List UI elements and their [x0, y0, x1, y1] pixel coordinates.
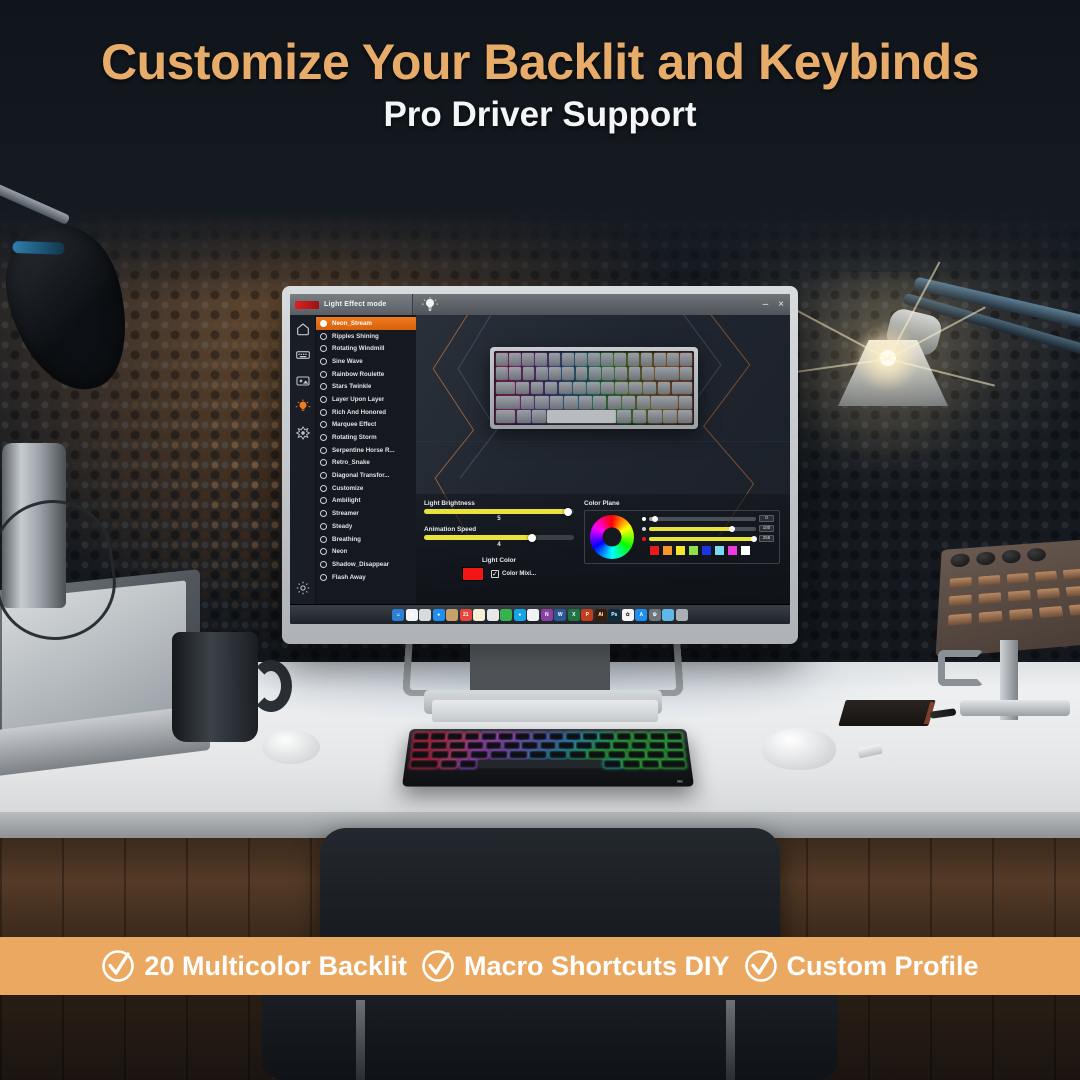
- radio-button-icon[interactable]: [320, 358, 327, 365]
- keycap: [666, 733, 682, 741]
- preview-key: [593, 396, 606, 409]
- mixer-knob: [976, 551, 995, 566]
- effect-controls: Light Brightness 5 Animation Speed: [416, 494, 790, 604]
- hsv-slider-hue[interactable]: [649, 517, 756, 521]
- speed-slider[interactable]: [424, 535, 574, 540]
- effect-item-label: Serpentine Horse R...: [332, 447, 395, 454]
- app-sidebar-rail: [290, 315, 316, 604]
- brightness-speed-color-column: Light Brightness 5 Animation Speed: [424, 500, 574, 598]
- color-swatch-2[interactable]: [675, 545, 686, 556]
- folder-icon[interactable]: [662, 609, 674, 621]
- rgb-mechanical-keyboard: RK: [402, 729, 694, 787]
- keyboard-row: [411, 751, 685, 759]
- preview-key: [587, 382, 600, 395]
- mixer-pad: [950, 577, 972, 588]
- keycap: [490, 751, 508, 759]
- effect-item-rainbow-roulette[interactable]: Rainbow Roulette: [316, 368, 416, 381]
- page-subtitle: Pro Driver Support: [0, 95, 1080, 135]
- radio-button-icon[interactable]: [320, 510, 327, 517]
- radio-button-icon[interactable]: [320, 421, 327, 428]
- preview-key: [564, 396, 577, 409]
- preview-key-wide: [496, 410, 515, 423]
- preview-key: [667, 353, 679, 366]
- brightness-value: 5: [424, 515, 574, 522]
- keycap: [481, 733, 497, 741]
- app-title: Light Effect mode: [324, 301, 387, 308]
- app-body: Neon_StreamRipples ShiningRotating Windm…: [290, 315, 790, 604]
- preview-key: [589, 367, 601, 380]
- preview-key-wide: [496, 396, 520, 409]
- preview-key: [601, 382, 614, 395]
- preview-key: [617, 410, 631, 423]
- settings-icon[interactable]: ⚙: [649, 609, 661, 621]
- preview-key: [588, 353, 600, 366]
- effect-item-serpentine-horse-r[interactable]: Serpentine Horse R...: [316, 444, 416, 457]
- effect-item-label: Sine Wave: [332, 358, 363, 365]
- mixer-pad: [1066, 586, 1080, 597]
- minimize-button[interactable]: –: [763, 300, 769, 310]
- light-color-section: Light Color ✓ Color Mixi...: [424, 557, 574, 581]
- check-circle-icon: [744, 949, 778, 983]
- app-titlebar: Light Effect mode: [290, 294, 790, 315]
- preview-row: [496, 367, 692, 380]
- monitor-stand-neck: [470, 640, 610, 694]
- effect-item-neon-stream[interactable]: Neon_Stream: [316, 317, 416, 330]
- mixer-pad: [1037, 588, 1060, 599]
- spacebar: [478, 760, 602, 768]
- preview-key: [496, 353, 508, 366]
- keycap: [633, 733, 649, 741]
- effect-item-rotating-storm[interactable]: Rotating Storm: [316, 431, 416, 444]
- keycap: [608, 751, 627, 759]
- color-plane-label: Color Plane: [584, 500, 780, 507]
- effect-item-breathing[interactable]: Breathing: [316, 533, 416, 546]
- effect-item-marquee-effect[interactable]: Marquee Effect: [316, 419, 416, 432]
- color-swatch-4[interactable]: [701, 545, 712, 556]
- keycap: [549, 733, 564, 741]
- preview-row: [496, 396, 692, 409]
- effect-item-label: Rotating Storm: [332, 434, 377, 441]
- close-button[interactable]: ×: [778, 300, 784, 310]
- preview-key: [523, 367, 535, 380]
- brightness-slider[interactable]: [424, 509, 574, 514]
- speed-slider-knob[interactable]: [528, 534, 536, 542]
- radio-button-icon[interactable]: [320, 472, 327, 479]
- mixer-pad: [978, 575, 1000, 586]
- effect-item-label: Ambilight: [332, 497, 361, 504]
- titlebar-right-section: – ×: [413, 294, 790, 315]
- color-swatch-1[interactable]: [662, 545, 673, 556]
- mixer-knob: [950, 553, 969, 568]
- preview-key: [658, 382, 671, 395]
- color-swatch-3[interactable]: [688, 545, 699, 556]
- mixer-pad-row: [949, 583, 1080, 606]
- word-icon[interactable]: W: [554, 609, 566, 621]
- calendar-icon[interactable]: 21: [460, 609, 472, 621]
- effect-item-label: Rainbow Roulette: [332, 371, 384, 378]
- preview-key: [629, 367, 641, 380]
- effect-item-steady[interactable]: Steady: [316, 520, 416, 533]
- lightbulb-icon[interactable]: [295, 399, 311, 415]
- hsv-slider-saturation[interactable]: [649, 527, 756, 531]
- effect-item-label: Breathing: [332, 536, 361, 543]
- effect-item-label: Flash Away: [332, 574, 366, 581]
- brightness-label: Light Brightness: [424, 500, 574, 507]
- preview-key: [679, 396, 692, 409]
- preview-key: [535, 396, 548, 409]
- keycap: [498, 733, 514, 741]
- keycap: [549, 751, 567, 759]
- mixer-pad: [979, 592, 1002, 604]
- photos-icon[interactable]: ✿: [622, 609, 634, 621]
- keycap: [439, 760, 457, 768]
- preview-key: [516, 382, 529, 395]
- radio-button-icon[interactable]: [320, 320, 327, 327]
- color-swatch-6[interactable]: [727, 545, 738, 556]
- effect-item-ambilight[interactable]: Ambilight: [316, 495, 416, 508]
- fan-effects-icon[interactable]: [295, 425, 311, 441]
- keycap: [612, 742, 629, 750]
- mixer-pad: [949, 595, 972, 607]
- keycap: [509, 751, 527, 759]
- keycap: [410, 760, 439, 768]
- keycap: [529, 751, 547, 759]
- keycap: [630, 742, 647, 750]
- preview-key: [562, 367, 574, 380]
- preview-key: [641, 353, 653, 366]
- keycap: [447, 733, 463, 741]
- color-swatch-7[interactable]: [740, 545, 751, 556]
- preview-key-wide: [496, 382, 515, 395]
- keycap: [594, 742, 611, 750]
- effect-item-diagonal-transfor[interactable]: Diagonal Transfor...: [316, 469, 416, 482]
- hsv-controls: 0100255: [642, 515, 774, 556]
- effect-item-label: Steady: [332, 523, 352, 530]
- chair-leg: [726, 1000, 735, 1080]
- hsv-value-hue[interactable]: 0: [759, 515, 774, 522]
- color-plane-box: 0100255: [584, 510, 780, 564]
- mixer-pad: [1008, 590, 1031, 602]
- keycap: [411, 751, 430, 759]
- keycap: [430, 733, 446, 741]
- preview-key: [608, 396, 621, 409]
- radio-button-icon[interactable]: [320, 561, 327, 568]
- color-wheel[interactable]: [590, 515, 634, 559]
- keyboard-preview-keys: [494, 351, 694, 425]
- preview-key: [648, 410, 662, 423]
- keycap: [448, 742, 465, 750]
- preview-key: [532, 410, 546, 423]
- coffee-mug: [172, 632, 258, 742]
- numbers-icon[interactable]: [500, 609, 512, 621]
- feature-label: Custom Profile: [787, 951, 979, 982]
- gear-icon[interactable]: [295, 580, 311, 596]
- keyboard-row: [412, 742, 684, 750]
- radio-button-icon[interactable]: [320, 574, 327, 581]
- hsv-value-saturation[interactable]: 100: [759, 525, 774, 532]
- color-swatch-0[interactable]: [649, 545, 660, 556]
- radio-button-icon[interactable]: [320, 409, 327, 416]
- mixer-pad: [1035, 571, 1058, 582]
- effect-item-ripples-shining[interactable]: Ripples Shining: [316, 330, 416, 343]
- rgb-driver-application: Light Effect mode: [290, 294, 790, 624]
- effect-item-shadow-disappear[interactable]: Shadow_Disappear: [316, 558, 416, 571]
- effect-item-label: Rich And Honored: [332, 409, 386, 416]
- effect-item-label: Diagonal Transfor...: [332, 472, 389, 479]
- preview-key: [615, 367, 627, 380]
- preview-key: [573, 382, 586, 395]
- lightbulb-icon: [422, 297, 438, 313]
- checkbox-icon[interactable]: ✓: [491, 570, 499, 578]
- keycap: [566, 733, 582, 741]
- photoshop-icon[interactable]: Ps: [608, 609, 620, 621]
- hsv-slider-knob[interactable]: [751, 536, 757, 542]
- effect-item-neon[interactable]: Neon: [316, 545, 416, 558]
- keyboard-icon[interactable]: [295, 347, 311, 363]
- os-dock[interactable]: ☺◎●21●NWXPAiPs✿A⚙: [290, 604, 790, 624]
- keycap: [430, 742, 447, 750]
- keycap: [642, 760, 660, 768]
- brightness-slider-knob[interactable]: [564, 508, 572, 516]
- preview-key: [575, 353, 587, 366]
- preview-key: [678, 410, 692, 423]
- radio-button-icon[interactable]: [320, 345, 327, 352]
- keycap: [666, 742, 684, 750]
- mixer-knob-row: [950, 548, 1046, 568]
- color-plane-column: Color Plane 0100255: [584, 500, 780, 598]
- effect-item-label: Rotating Windmill: [332, 345, 385, 352]
- qq-icon[interactable]: ●: [514, 609, 526, 621]
- preview-key: [550, 396, 563, 409]
- effect-item-customize[interactable]: Customize: [316, 482, 416, 495]
- color-mixing-checkbox[interactable]: ✓ Color Mixi...: [491, 570, 536, 578]
- feature-item-0: 20 Multicolor Backlit: [101, 949, 407, 983]
- keycap: [568, 751, 586, 759]
- effect-item-streamer[interactable]: Streamer: [316, 507, 416, 520]
- keyboard-wrist-rest: [432, 700, 658, 722]
- effect-item-label: Marquee Effect: [332, 421, 376, 428]
- keycap: [412, 742, 430, 750]
- speed-value: 4: [424, 541, 574, 548]
- effect-item-label: Layer Upon Layer: [332, 396, 384, 403]
- contacts-icon[interactable]: [446, 609, 458, 621]
- preview-row: [496, 410, 692, 423]
- keycap: [647, 751, 666, 759]
- preview-key: [579, 396, 592, 409]
- radio-button-icon[interactable]: [320, 434, 327, 441]
- hsv-slider-fill: [649, 527, 732, 531]
- light-color-swatch[interactable]: [462, 567, 484, 581]
- mixer-pad: [979, 611, 1002, 623]
- color-swatch-row[interactable]: [642, 545, 774, 556]
- feature-item-1: Macro Shortcuts DIY: [421, 949, 730, 983]
- preview-key: [536, 367, 548, 380]
- trash-icon[interactable]: [676, 609, 688, 621]
- preview-key: [509, 353, 521, 366]
- speed-slider-fill: [424, 535, 532, 540]
- preview-key: [522, 353, 534, 366]
- preview-key: [562, 353, 574, 366]
- hsv-indicator-dot: [642, 527, 646, 531]
- hsv-slider-value[interactable]: [649, 537, 756, 541]
- preview-key: [517, 410, 531, 423]
- reminders-icon[interactable]: [487, 609, 499, 621]
- radio-button-icon[interactable]: [320, 396, 327, 403]
- effect-item-rotating-windmill[interactable]: Rotating Windmill: [316, 342, 416, 355]
- radio-button-icon[interactable]: [320, 536, 327, 543]
- effect-item-label: Shadow_Disappear: [332, 561, 389, 568]
- keycap: [540, 742, 557, 750]
- feature-item-2: Custom Profile: [744, 949, 979, 983]
- desk-speaker-puck: [262, 730, 320, 764]
- keycap: [532, 733, 547, 741]
- monitor-screen: Light Effect mode: [290, 294, 790, 624]
- mixer-pad: [1039, 606, 1063, 618]
- effect-item-label: Ripples Shining: [332, 333, 379, 340]
- preview-key: [642, 367, 654, 380]
- mixer-stand-clamp: [938, 650, 984, 686]
- safari-icon[interactable]: ◎: [406, 609, 418, 621]
- light-color-row: ✓ Color Mixi...: [424, 567, 574, 581]
- preview-key: [535, 353, 547, 366]
- preview-key: [496, 367, 508, 380]
- radio-button-icon[interactable]: [320, 548, 327, 555]
- effect-item-flash-away[interactable]: Flash Away: [316, 571, 416, 584]
- feature-highlight-bar: 20 Multicolor BacklitMacro Shortcuts DIY…: [0, 937, 1080, 995]
- pages-icon[interactable]: [527, 609, 539, 621]
- preview-row: [496, 353, 692, 366]
- keycap: [582, 733, 598, 741]
- keycap: [648, 742, 665, 750]
- mixer-knob: [1001, 549, 1021, 563]
- messages-icon[interactable]: ●: [433, 609, 445, 621]
- keycap: [558, 742, 575, 750]
- radio-button-icon[interactable]: [320, 383, 327, 390]
- effect-item-layer-upon-layer[interactable]: Layer Upon Layer: [316, 393, 416, 406]
- light-effect-list[interactable]: Neon_StreamRipples ShiningRotating Windm…: [316, 315, 416, 604]
- hsv-indicator-dot: [642, 537, 646, 541]
- effect-item-stars-twinkle[interactable]: Stars Twinkle: [316, 380, 416, 393]
- notebook: [838, 700, 935, 726]
- radio-button-icon[interactable]: [320, 523, 327, 530]
- radio-button-icon[interactable]: [320, 459, 327, 466]
- preview-key: [654, 353, 666, 366]
- radio-button-icon[interactable]: [320, 485, 327, 492]
- keycap: [459, 760, 477, 768]
- preview-panel: Light Brightness 5 Animation Speed: [416, 315, 790, 604]
- preview-key: [601, 353, 613, 366]
- brightness-slider-fill: [424, 509, 568, 514]
- preview-key-wide: [655, 367, 679, 380]
- page-title: Customize Your Backlit and Keybinds: [0, 36, 1080, 89]
- keyboard-row: [413, 733, 683, 741]
- window-controls: – ×: [763, 294, 784, 315]
- illustrator-icon[interactable]: Ai: [595, 609, 607, 621]
- radio-button-icon[interactable]: [320, 371, 327, 378]
- preview-key-wide: [672, 382, 692, 395]
- titlebar-left-section: Light Effect mode: [290, 294, 413, 315]
- preview-key: [545, 382, 558, 395]
- color-mixing-label: Color Mixi...: [502, 571, 536, 577]
- mixer-pad-row: [948, 601, 1080, 626]
- radio-button-icon[interactable]: [320, 497, 327, 504]
- desktop-monitor: Light Effect mode: [282, 286, 798, 644]
- mixer-knob: [1027, 548, 1047, 562]
- keycap: [485, 742, 502, 750]
- notes-icon[interactable]: [473, 609, 485, 621]
- hsv-row-hue[interactable]: 0: [642, 515, 774, 522]
- preview-key: [629, 382, 642, 395]
- keycap: [588, 751, 606, 759]
- effect-item-retro-snake[interactable]: Retro_Snake: [316, 457, 416, 470]
- onenote-icon[interactable]: N: [541, 609, 553, 621]
- keyboard-preview[interactable]: [490, 347, 698, 429]
- effect-item-sine-wave[interactable]: Sine Wave: [316, 355, 416, 368]
- mixer-pad: [948, 613, 972, 626]
- keycap: [661, 760, 687, 768]
- finder-icon[interactable]: ☺: [392, 609, 404, 621]
- preview-key: [602, 367, 614, 380]
- preview-key: [663, 410, 677, 423]
- brand-logo-icon: [295, 301, 319, 309]
- preview-key: [614, 353, 626, 366]
- chair-leg: [356, 1000, 365, 1080]
- powerpoint-icon[interactable]: P: [581, 609, 593, 621]
- speed-label: Animation Speed: [424, 526, 574, 533]
- preview-key: [531, 382, 544, 395]
- effect-item-label: Neon_Stream: [332, 320, 372, 327]
- keycap: [576, 742, 593, 750]
- keyboard-row-spacebar: [410, 760, 687, 768]
- preview-key: [549, 353, 561, 366]
- mixer-pad: [1007, 573, 1029, 584]
- effect-item-label: Customize: [332, 485, 363, 492]
- hsv-value-value[interactable]: 255: [759, 535, 774, 542]
- preview-key: [628, 353, 640, 366]
- preview-key: [622, 396, 635, 409]
- check-circle-icon: [421, 949, 455, 983]
- hsv-row-saturation[interactable]: 100: [642, 525, 774, 532]
- mixer-pad-row: [950, 567, 1080, 589]
- radio-button-icon[interactable]: [320, 447, 327, 454]
- effect-item-label: Streamer: [332, 510, 359, 517]
- light-color-label: Light Color: [424, 557, 574, 564]
- keycap: [470, 751, 489, 759]
- keycap: [464, 733, 480, 741]
- preview-key: [637, 396, 650, 409]
- keycap: [650, 733, 666, 741]
- preview-key: [509, 367, 521, 380]
- preview-key: [576, 367, 588, 380]
- notes-gray-icon[interactable]: [419, 609, 431, 621]
- hsv-row-value[interactable]: 255: [642, 535, 774, 542]
- color-swatch-5[interactable]: [714, 545, 725, 556]
- radio-button-icon[interactable]: [320, 333, 327, 340]
- keycap: [666, 751, 685, 759]
- hsv-slider-knob[interactable]: [729, 526, 735, 532]
- home-icon[interactable]: [295, 321, 311, 337]
- hsv-slider-knob[interactable]: [652, 516, 658, 522]
- preview-key: [633, 410, 647, 423]
- effect-item-rich-and-honored[interactable]: Rich And Honored: [316, 406, 416, 419]
- appstore-icon[interactable]: A: [635, 609, 647, 621]
- excel-icon[interactable]: X: [568, 609, 580, 621]
- keyboard-brand-logo: RK: [677, 779, 684, 784]
- check-circle-icon: [101, 949, 135, 983]
- preview-row: [496, 382, 692, 395]
- macro-display-icon[interactable]: [295, 373, 311, 389]
- preview-spacebar: [547, 410, 616, 423]
